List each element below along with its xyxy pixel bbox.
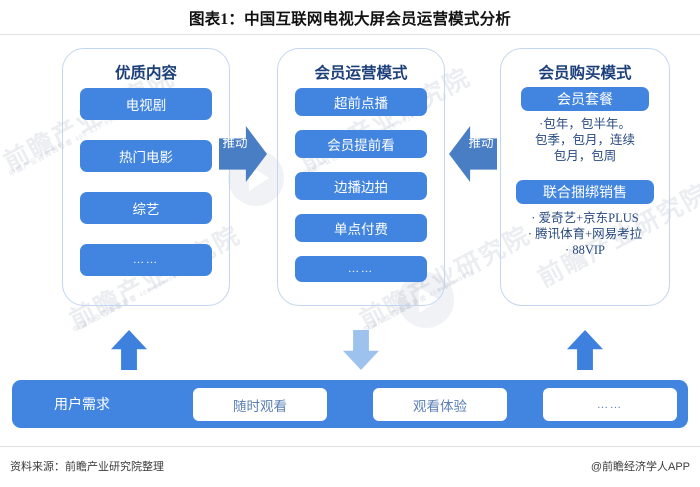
joint-bundle-line-1: · 爱奇艺+京东PLUS [503,210,667,226]
chip-advance-on-demand[interactable]: 超前点播 [295,88,427,116]
joint-bundle-line-3: · 88VIP [503,242,667,258]
arrow-up-left-icon [111,330,147,370]
chip-hot-movie[interactable]: 热门电影 [80,140,212,172]
bottom-card-watch-anytime[interactable]: 随时观看 [193,388,327,421]
arrow-push-right-icon: 推动 [219,126,267,182]
chip-variety-show[interactable]: 综艺 [80,192,212,224]
chip-shoot-while-airing[interactable]: 边播边拍 [295,172,427,200]
arrow-push-left-label: 推动 [468,133,494,153]
infographic-canvas: 图表1：中国互联网电视大屏会员运营模式分析 前瞻产业研究院 中国产业咨询领导者 … [0,0,700,487]
joint-bundle-line-2: · 腾讯体育+网易考拉 [503,226,667,242]
member-package-line-1: ·包年，包半年。 [503,116,667,132]
chip-pay-per-view[interactable]: 单点付费 [295,214,427,242]
card-title-quality-content: 优质内容 [63,61,229,83]
chip-member-package[interactable]: 会员套餐 [521,87,649,111]
card-title-member-purchase-mode: 会员购买模式 [501,61,669,83]
arrow-up-right-icon [567,330,603,370]
member-package-line-3: 包月，包周 [503,148,667,164]
title-divider [0,34,700,35]
page-title: 图表1：中国互联网电视大屏会员运营模式分析 [0,7,700,29]
arrow-down-mid-icon [343,330,379,370]
footer-credit: @前瞻经济学人APP [591,458,690,474]
arrow-push-right-label: 推动 [222,133,248,153]
arrow-push-left-icon: 推动 [449,126,497,182]
card-title-member-operation-mode: 会员运营模式 [278,61,444,83]
user-demand-label: 用户需求 [54,394,110,414]
chip-more-content[interactable]: …… [80,244,212,276]
footer-divider [0,446,700,447]
bottom-card-more[interactable]: …… [543,388,677,421]
chip-member-early-view[interactable]: 会员提前看 [295,130,427,158]
user-demand-bar: 用户需求 随时观看 观看体验 …… [12,380,688,428]
footer-source: 资料来源：前瞻产业研究院整理 [10,458,164,474]
chip-more-modes[interactable]: …… [295,256,427,282]
member-package-line-2: 包季，包月，连续 [503,132,667,148]
chip-joint-bundle-sales[interactable]: 联合捆绑销售 [516,180,654,204]
bottom-card-watch-experience[interactable]: 观看体验 [373,388,507,421]
chip-tv-drama[interactable]: 电视剧 [80,88,212,120]
